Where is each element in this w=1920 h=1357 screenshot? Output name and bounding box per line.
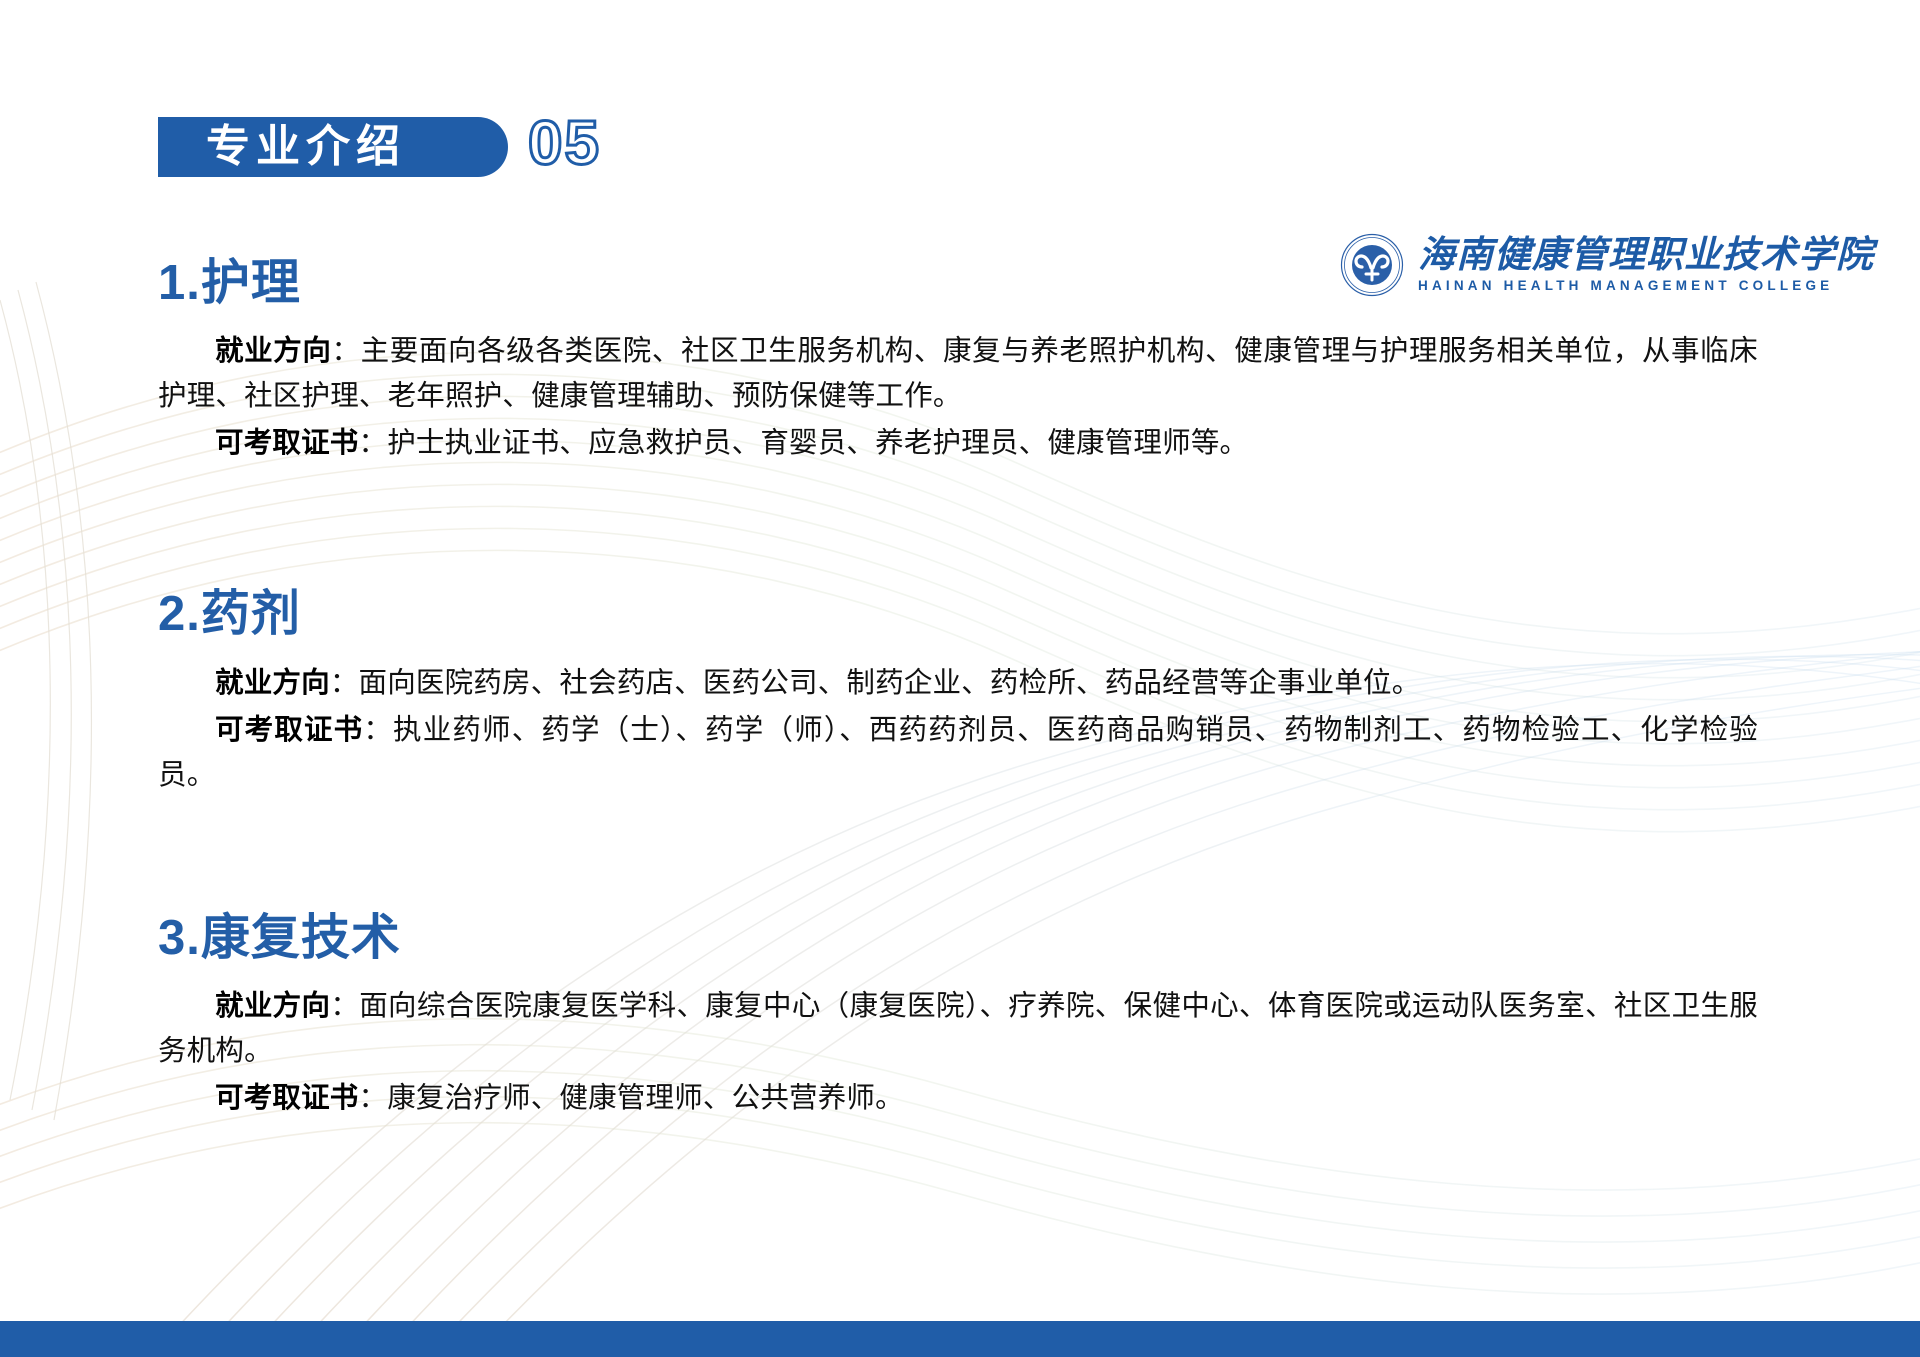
certificates-paragraph: 可考取证书：护士执业证书、应急救护员、育婴员、养老护理员、健康管理师等。	[158, 421, 1758, 466]
certificates-colon: ：	[359, 1082, 388, 1114]
section-spacer	[0, 800, 1920, 910]
poster-page: 专业介绍 05 海南健康管理职业技术学院 HAINAN HEALTH MANAG…	[0, 0, 1920, 1357]
major-body: 就业方向：主要面向各级各类医院、社区卫生服务机构、康复与养老照护机构、健康管理与…	[158, 329, 1758, 466]
certificates-text: 康复治疗师、健康管理师、公共营养师。	[387, 1082, 904, 1114]
employment-label: 就业方向	[215, 990, 330, 1022]
major-heading: 2.药剂	[158, 586, 1920, 642]
certificates-text: 护士执业证书、应急救护员、育婴员、养老护理员、健康管理师等。	[387, 427, 1248, 459]
employment-colon: ：	[330, 990, 359, 1022]
employment-text: 面向医院药房、社会药店、医药公司、制药企业、药检所、药品经营等企事业单位。	[359, 667, 1421, 699]
certificates-colon: ：	[363, 714, 393, 746]
section-spacer	[0, 468, 1920, 586]
page-title: 专业介绍	[206, 125, 406, 169]
certificates-paragraph: 可考取证书：康复治疗师、健康管理师、公共营养师。	[158, 1076, 1758, 1121]
footer-bar	[0, 1321, 1920, 1357]
major-block-1: 1.护理 就业方向：主要面向各级各类医院、社区卫生服务机构、康复与养老照护机构、…	[0, 255, 1920, 466]
major-block-3: 3.康复技术 就业方向：面向综合医院康复医学科、康复中心（康复医院）、疗养院、保…	[0, 910, 1920, 1121]
employment-colon: ：	[331, 335, 360, 367]
page-header: 专业介绍 05 海南健康管理职业技术学院 HAINAN HEALTH MANAG…	[0, 100, 1920, 190]
major-body: 就业方向：面向综合医院康复医学科、康复中心（康复医院）、疗养院、保健中心、体育医…	[158, 984, 1758, 1121]
section-title-badge: 专业介绍	[158, 117, 508, 177]
certificates-text: 执业药师、药学（士）、药学（师）、西药药剂员、医药商品购销员、药物制剂工、药物检…	[158, 714, 1758, 791]
section-number: 05	[528, 110, 601, 178]
employment-paragraph: 就业方向：面向医院药房、社会药店、医药公司、制药企业、药检所、药品经营等企事业单…	[158, 661, 1758, 706]
employment-text: 主要面向各级各类医院、社区卫生服务机构、康复与养老照护机构、健康管理与护理服务相…	[158, 335, 1758, 412]
certificates-label: 可考取证书	[215, 1082, 359, 1114]
employment-label: 就业方向	[215, 335, 331, 367]
certificates-colon: ：	[359, 427, 388, 459]
employment-text: 面向综合医院康复医学科、康复中心（康复医院）、疗养院、保健中心、体育医院或运动队…	[158, 990, 1758, 1067]
employment-paragraph: 就业方向：面向综合医院康复医学科、康复中心（康复医院）、疗养院、保健中心、体育医…	[158, 984, 1758, 1074]
employment-label: 就业方向	[215, 667, 330, 699]
employment-paragraph: 就业方向：主要面向各级各类医院、社区卫生服务机构、康复与养老照护机构、健康管理与…	[158, 329, 1758, 419]
majors-list: 1.护理 就业方向：主要面向各级各类医院、社区卫生服务机构、康复与养老照护机构、…	[0, 255, 1920, 1123]
employment-colon: ：	[330, 667, 359, 699]
certificates-label: 可考取证书	[215, 714, 363, 746]
major-heading: 3.康复技术	[158, 910, 1920, 966]
certificates-label: 可考取证书	[215, 427, 359, 459]
major-heading: 1.护理	[158, 255, 1920, 311]
certificates-paragraph: 可考取证书：执业药师、药学（士）、药学（师）、西药药剂员、医药商品购销员、药物制…	[158, 708, 1758, 798]
major-body: 就业方向：面向医院药房、社会药店、医药公司、制药企业、药检所、药品经营等企事业单…	[158, 661, 1758, 798]
major-block-2: 2.药剂 就业方向：面向医院药房、社会药店、医药公司、制药企业、药检所、药品经营…	[0, 586, 1920, 797]
